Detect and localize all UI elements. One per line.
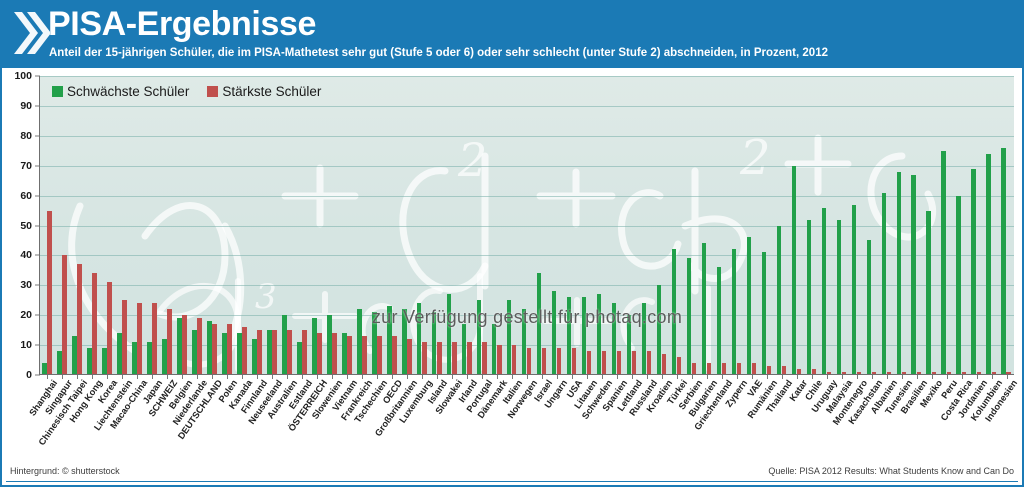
bar-weakest <box>432 312 436 375</box>
bar-weakest <box>327 315 331 375</box>
bar-weakest <box>911 175 915 375</box>
legend-label-weakest: Schwächste Schüler <box>67 84 189 99</box>
bar-strongest <box>557 348 561 375</box>
bar-group <box>520 76 535 375</box>
bar-group <box>579 76 594 375</box>
bar-weakest <box>897 172 901 375</box>
y-axis-labels: 0102030405060708090100 <box>6 70 36 375</box>
bar-group <box>355 76 370 375</box>
bar-weakest <box>777 226 781 376</box>
bar-weakest <box>926 211 930 375</box>
y-tick-label: 90 <box>6 100 32 112</box>
bar-strongest <box>77 264 81 375</box>
bar-group <box>445 76 460 375</box>
bar-weakest <box>747 237 751 375</box>
bar-group <box>430 76 445 375</box>
bar-group <box>265 76 280 375</box>
bar-group <box>100 76 115 375</box>
bar-strongest <box>257 330 261 375</box>
bar-weakest <box>267 330 271 375</box>
bar-strongest <box>377 336 381 375</box>
bar-group <box>340 76 355 375</box>
bar-group <box>385 76 400 375</box>
bar-weakest <box>687 258 691 375</box>
bar-group <box>295 76 310 375</box>
bar-group <box>160 76 175 375</box>
bar-weakest <box>387 306 391 375</box>
bar-weakest <box>507 300 511 375</box>
bar-weakest <box>837 220 841 375</box>
bar-group <box>594 76 609 375</box>
bar-group <box>549 76 564 375</box>
bar-weakest <box>192 330 196 375</box>
y-tick-label: 80 <box>6 130 32 142</box>
bar-group <box>310 76 325 375</box>
bar-weakest <box>252 339 256 375</box>
bar-group <box>714 76 729 375</box>
bar-strongest <box>287 330 291 375</box>
chart-legend: Schwächste Schüler Stärkste Schüler <box>52 84 321 99</box>
legend-item-strongest: Stärkste Schüler <box>207 84 321 99</box>
bar-weakest <box>147 342 151 375</box>
bar-weakest <box>57 351 61 375</box>
chart-infographic: PISA-Ergebnisse Anteil der 15-jährigen S… <box>0 0 1024 487</box>
bar-group <box>400 76 415 375</box>
footer-divider <box>6 481 1018 482</box>
double-chevron-icon <box>10 8 50 58</box>
bar-group <box>999 76 1014 375</box>
bar-weakest <box>102 348 106 375</box>
header-band: PISA-Ergebnisse Anteil der 15-jährigen S… <box>2 2 1022 68</box>
bar-weakest <box>882 193 886 375</box>
bar-strongest <box>407 339 411 375</box>
bar-weakest <box>87 348 91 375</box>
bar-strongest <box>272 330 276 375</box>
bar-group <box>490 76 505 375</box>
bar-weakest <box>132 342 136 375</box>
bar-series <box>40 76 1014 375</box>
bar-group <box>909 76 924 375</box>
bar-strongest <box>392 336 396 375</box>
bar-weakest <box>717 267 721 375</box>
bar-group <box>115 76 130 375</box>
bar-group <box>130 76 145 375</box>
bar-weakest <box>642 303 646 375</box>
bar-weakest <box>702 243 706 375</box>
bar-strongest <box>677 357 681 375</box>
bar-weakest <box>312 318 316 375</box>
bar-weakest <box>447 294 451 375</box>
bar-group <box>370 76 385 375</box>
bar-strongest <box>362 336 366 375</box>
y-tick-label: 60 <box>6 190 32 202</box>
bar-weakest <box>732 249 736 375</box>
bar-group <box>220 76 235 375</box>
bar-strongest <box>572 348 576 375</box>
bar-strongest <box>437 342 441 375</box>
bar-group <box>280 76 295 375</box>
bar-strongest <box>107 282 111 375</box>
bar-strongest <box>242 327 246 375</box>
bar-weakest <box>342 333 346 375</box>
bar-strongest <box>602 351 606 375</box>
bar-group <box>70 76 85 375</box>
footer-credit: Hintergrund: © shutterstock <box>10 466 120 476</box>
bar-strongest <box>302 330 306 375</box>
bar-group <box>505 76 520 375</box>
bar-strongest <box>137 303 141 375</box>
bar-group <box>939 76 954 375</box>
y-tick-label: 70 <box>6 160 32 172</box>
y-tick-label: 10 <box>6 339 32 351</box>
bar-group <box>969 76 984 375</box>
bar-group <box>639 76 654 375</box>
bar-weakest <box>237 333 241 375</box>
bar-strongest <box>152 303 156 375</box>
bar-group <box>325 76 340 375</box>
bar-weakest <box>372 312 376 375</box>
bar-strongest <box>347 336 351 375</box>
bar-strongest <box>662 354 666 375</box>
bar-group <box>534 76 549 375</box>
bar-weakest <box>657 285 661 375</box>
legend-swatch-red <box>207 86 218 97</box>
bar-group <box>849 76 864 375</box>
bar-weakest <box>222 333 226 375</box>
bar-weakest <box>822 208 826 375</box>
bar-group <box>744 76 759 375</box>
legend-item-weakest: Schwächste Schüler <box>52 84 189 99</box>
page-title: PISA-Ergebnisse <box>48 2 316 46</box>
bar-strongest <box>227 324 231 375</box>
bar-weakest <box>522 309 526 375</box>
y-tick-label: 50 <box>6 220 32 232</box>
bar-group <box>564 76 579 375</box>
bar-weakest <box>177 318 181 375</box>
bar-weakest <box>941 151 945 375</box>
bar-group <box>834 76 849 375</box>
bar-strongest <box>647 351 651 375</box>
bar-group <box>609 76 624 375</box>
bar-group <box>819 76 834 375</box>
bar-strongest <box>482 342 486 375</box>
y-tick-label: 20 <box>6 309 32 321</box>
bar-weakest <box>612 303 616 375</box>
bar-weakest <box>417 303 421 375</box>
bar-group <box>774 76 789 375</box>
bar-group <box>460 76 475 375</box>
bar-weakest <box>867 240 871 375</box>
y-tick-label: 30 <box>6 279 32 291</box>
bar-strongest <box>317 333 321 375</box>
bar-weakest <box>162 339 166 375</box>
bar-group <box>190 76 205 375</box>
bar-strongest <box>527 348 531 375</box>
bar-weakest <box>852 205 856 375</box>
bar-group <box>205 76 220 375</box>
bar-group <box>864 76 879 375</box>
bar-weakest <box>627 315 631 375</box>
bar-group <box>669 76 684 375</box>
bar-group <box>699 76 714 375</box>
bar-group <box>654 76 669 375</box>
bar-strongest <box>332 333 336 375</box>
bar-group <box>804 76 819 375</box>
bar-strongest <box>542 348 546 375</box>
bar-weakest <box>552 291 556 375</box>
y-tick-label: 0 <box>6 369 32 381</box>
bar-group <box>879 76 894 375</box>
chart-area: 0102030405060708090100 <box>6 70 1018 462</box>
bar-strongest <box>632 351 636 375</box>
bar-strongest <box>617 351 621 375</box>
bar-group <box>55 76 70 375</box>
bar-group <box>789 76 804 375</box>
footer: Hintergrund: © shutterstock Quelle: PISA… <box>6 464 1018 484</box>
bar-group <box>729 76 744 375</box>
bar-weakest <box>986 154 990 375</box>
y-tick-label: 100 <box>6 70 32 82</box>
bar-weakest <box>357 309 361 375</box>
bar-group <box>954 76 969 375</box>
bar-group <box>924 76 939 375</box>
bar-weakest <box>597 294 601 375</box>
bar-group <box>415 76 430 375</box>
bar-strongest <box>122 300 126 375</box>
bar-weakest <box>477 300 481 375</box>
bar-group <box>984 76 999 375</box>
bar-weakest <box>582 297 586 375</box>
bar-strongest <box>512 345 516 375</box>
bar-strongest <box>167 309 171 375</box>
legend-label-strongest: Stärkste Schüler <box>222 84 321 99</box>
bar-weakest <box>297 342 301 375</box>
page-subtitle: Anteil der 15-jährigen Schüler, die im P… <box>49 46 828 60</box>
bar-strongest <box>47 211 51 375</box>
footer-source: Quelle: PISA 2012 Results: What Students… <box>768 466 1014 476</box>
bar-weakest <box>117 333 121 375</box>
bar-weakest <box>72 336 76 375</box>
bar-weakest <box>462 324 466 375</box>
bar-strongest <box>497 345 501 375</box>
bar-group <box>40 76 55 375</box>
bar-weakest <box>492 324 496 375</box>
bar-weakest <box>537 273 541 375</box>
bar-group <box>624 76 639 375</box>
bar-weakest <box>762 252 766 375</box>
bar-strongest <box>92 273 96 375</box>
bar-weakest <box>971 169 975 375</box>
bar-group <box>235 76 250 375</box>
bar-weakest <box>956 196 960 375</box>
bar-group <box>894 76 909 375</box>
bar-weakest <box>207 321 211 375</box>
bar-group <box>145 76 160 375</box>
bar-weakest <box>672 249 676 375</box>
bar-strongest <box>452 342 456 375</box>
bar-strongest <box>212 324 216 375</box>
bar-group <box>475 76 490 375</box>
y-tick-label: 40 <box>6 249 32 261</box>
bar-weakest <box>1001 148 1005 375</box>
bar-strongest <box>197 318 201 375</box>
bar-weakest <box>402 309 406 375</box>
bar-strongest <box>467 342 471 375</box>
bar-group <box>684 76 699 375</box>
bar-group <box>250 76 265 375</box>
bar-weakest <box>282 315 286 375</box>
bar-strongest <box>422 342 426 375</box>
bar-weakest <box>792 166 796 375</box>
bar-group <box>175 76 190 375</box>
bar-group <box>85 76 100 375</box>
bar-strongest <box>587 351 591 375</box>
bar-strongest <box>182 315 186 375</box>
bar-group <box>759 76 774 375</box>
legend-swatch-green <box>52 86 63 97</box>
bar-weakest <box>567 297 571 375</box>
x-axis-labels: ShanghaiSingapurChinesisch TaipeiHong Ko… <box>40 378 1024 462</box>
bar-weakest <box>807 220 811 375</box>
plot-canvas: 2 2 3 Schwächste Schüler Stärkste Schüle… <box>40 76 1014 375</box>
bar-strongest <box>62 255 66 375</box>
